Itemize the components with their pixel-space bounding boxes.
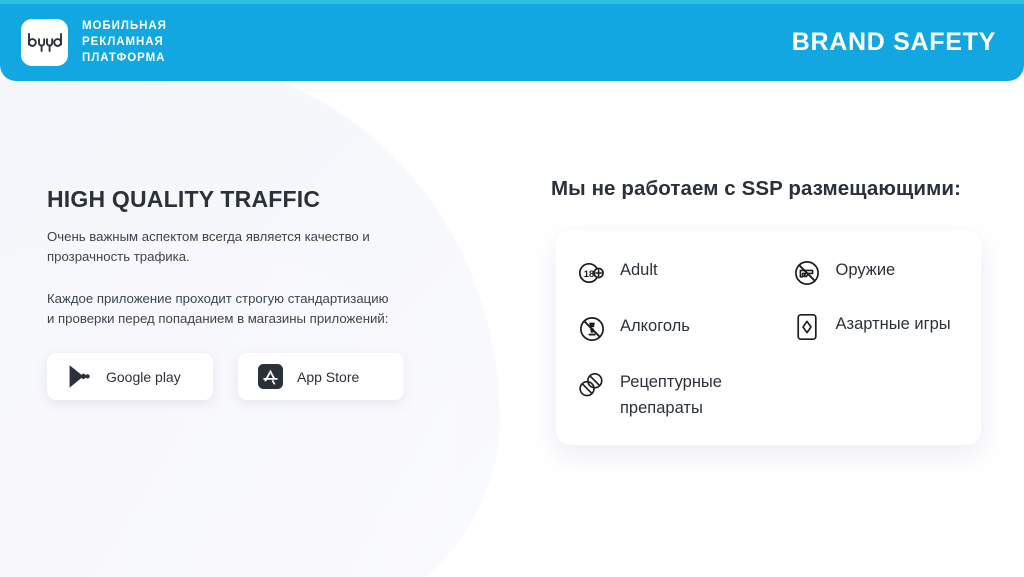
restricted-item-adult: 18 Adult [578,257,794,286]
restricted-item-alcohol: Алкоголь [578,313,794,342]
byyd-logo-badge [21,19,68,66]
restricted-categories-column-left: 18 Adult [578,257,794,421]
brand-tagline-line-2: РЕКЛАМНАЯ [82,35,167,50]
store-buttons-row: Google play App Store [47,353,447,400]
restricted-item-weapons-label: Оружие [836,257,896,283]
slide-root: МОБИЛЬНАЯ РЕКЛАМНАЯ ПЛАТФОРМА BRAND SAFE… [0,0,1024,577]
page-title: BRAND SAFETY [792,28,996,57]
google-play-icon [66,364,92,390]
right-content-column: Мы не работаем с SSP размещающими: 18 Ad… [551,177,991,445]
pills-icon [578,371,605,398]
app-store-button[interactable]: App Store [238,353,404,400]
page-header: МОБИЛЬНАЯ РЕКЛАМНАЯ ПЛАТФОРМА BRAND SAFE… [0,0,1024,81]
left-content-column: HIGH QUALITY TRAFFIC Очень важным аспект… [47,186,447,400]
restricted-categories-card: 18 Adult [556,231,981,445]
restricted-item-adult-label: Adult [620,257,658,283]
restricted-item-prescription-drugs: Рецептурные препараты [578,369,794,421]
google-play-label: Google play [106,369,181,385]
svg-text:18: 18 [584,267,594,278]
brand-tagline: МОБИЛЬНАЯ РЕКЛАМНАЯ ПЛАТФОРМА [82,19,167,66]
app-store-icon [257,364,283,390]
right-section-title: Мы не работаем с SSP размещающими: [551,177,991,201]
brand-tagline-line-3: ПЛАТФОРМА [82,51,167,66]
no-alcohol-icon [578,315,605,342]
restricted-item-gambling-label: Азартные игры [836,311,951,337]
byyd-wordmark-icon [26,32,64,54]
restricted-item-weapons: Оружие [794,257,959,286]
restricted-item-prescription-drugs-label: Рецептурные препараты [620,369,780,421]
restricted-categories-column-right: Оружие Азартные игры [794,257,959,421]
eighteen-plus-icon: 18 [578,259,605,286]
playing-card-icon [794,313,821,340]
google-play-button[interactable]: Google play [47,353,213,400]
left-section-title: HIGH QUALITY TRAFFIC [47,186,447,213]
app-store-label: App Store [297,369,359,385]
brand-logo-group[interactable]: МОБИЛЬНАЯ РЕКЛАМНАЯ ПЛАТФОРМА [21,19,167,66]
left-paragraph-2: Каждое приложение проходит строгую станд… [47,289,393,329]
no-weapon-icon [794,259,821,286]
left-paragraph-1: Очень важным аспектом всегда является ка… [47,227,421,267]
restricted-item-gambling: Азартные игры [794,311,959,340]
header-accent-line [0,0,1024,4]
restricted-item-alcohol-label: Алкоголь [620,313,690,339]
brand-tagline-line-1: МОБИЛЬНАЯ [82,19,167,34]
